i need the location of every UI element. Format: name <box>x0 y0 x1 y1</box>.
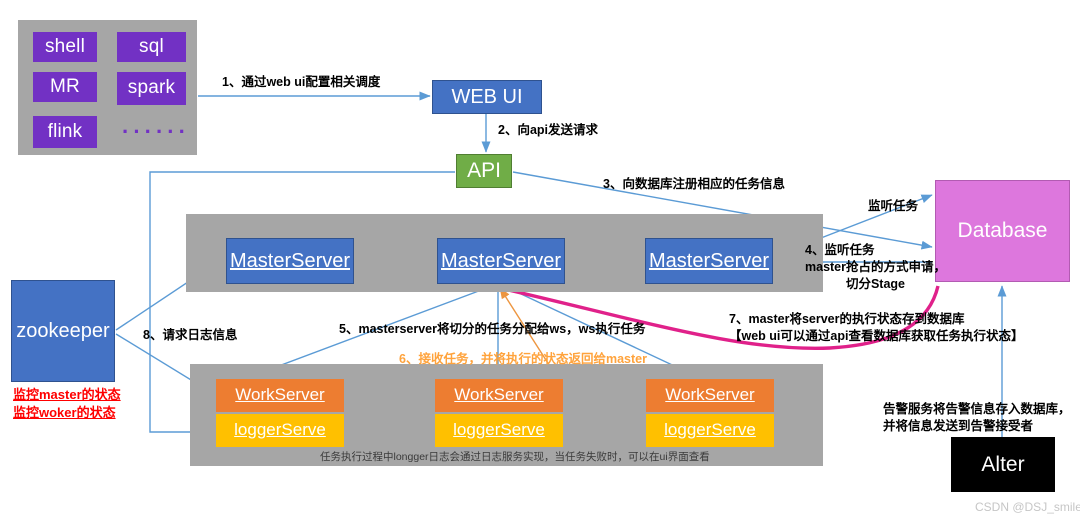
task-chip-mr[interactable]: MR <box>33 72 97 102</box>
annotation-step-7: 7、master将server的执行状态存到数据库 【web ui可以通过api… <box>729 311 1023 345</box>
task-chip-sql[interactable]: sql <box>117 32 186 62</box>
annotation-step-3: 3、向数据库注册相应的任务信息 <box>603 176 785 193</box>
work-server-node-3[interactable]: WorkServer <box>646 379 774 412</box>
zookeeper-note-line-1: 监控master的状态 <box>13 386 121 404</box>
work-server-node-2[interactable]: WorkServer <box>435 379 563 412</box>
api-node[interactable]: API <box>456 154 512 188</box>
annotation-step-4-line-2: master抢占的方式申请， <box>805 259 946 276</box>
logger-serve-node-1[interactable]: loggerServe <box>216 414 344 447</box>
task-chip-flink[interactable]: flink <box>33 116 97 148</box>
task-chip-spark[interactable]: spark <box>117 72 186 105</box>
watermark: CSDN @DSJ_smile <box>975 500 1080 514</box>
zookeeper-node[interactable]: zookeeper <box>11 280 115 382</box>
database-node[interactable]: Database <box>935 180 1070 282</box>
annotation-step-7-line-2: 【web ui可以通过api查看数据库获取任务执行状态】 <box>729 328 1023 345</box>
alter-note-line-2: 并将信息发送到告警接受者 <box>883 418 1071 435</box>
master-server-node-2[interactable]: MasterServer <box>437 238 565 284</box>
web-ui-node[interactable]: WEB UI <box>432 80 542 114</box>
annotation-step-8: 8、请求日志信息 <box>143 327 237 344</box>
zookeeper-note: 监控master的状态 监控woker的状态 <box>13 386 121 422</box>
alter-node[interactable]: Alter <box>951 437 1055 492</box>
master-server-node-3[interactable]: MasterServer <box>645 238 773 284</box>
annotation-step-1: 1、通过web ui配置相关调度 <box>222 74 380 91</box>
annotation-listen-task: 监听任务 <box>868 198 918 215</box>
zookeeper-note-line-2: 监控woker的状态 <box>13 404 121 422</box>
diagram-canvas: shell sql MR spark flink ······ WEB UI A… <box>0 0 1080 521</box>
task-chip-shell[interactable]: shell <box>33 32 97 62</box>
alter-note: 告警服务将告警信息存入数据库， 并将信息发送到告警接受者 <box>883 401 1071 435</box>
annotation-step-4-line-1: 4、监听任务 <box>805 242 946 259</box>
annotation-step-6: 6、接收任务，并将执行的状态返回给master <box>399 348 647 367</box>
annotation-step-4-line-3: 切分Stage <box>805 276 946 293</box>
annotation-step-2: 2、向api发送请求 <box>498 122 598 139</box>
annotation-step-7-line-1: 7、master将server的执行状态存到数据库 <box>729 311 1023 328</box>
annotation-step-4: 4、监听任务 master抢占的方式申请， 切分Stage <box>805 242 946 293</box>
master-server-node-1[interactable]: MasterServer <box>226 238 354 284</box>
annotation-step-5: 5、masterserver将切分的任务分配给ws，ws执行任务 <box>339 321 645 338</box>
work-server-node-1[interactable]: WorkServer <box>216 379 344 412</box>
logger-serve-node-3[interactable]: loggerServe <box>646 414 774 447</box>
task-chip-more: ······ <box>122 118 192 146</box>
logger-serve-node-2[interactable]: loggerServe <box>435 414 563 447</box>
worker-caption: 任务执行过程中longger日志会通过日志服务实现，当任务失败时，可以在ui界面… <box>320 449 710 464</box>
alter-note-line-1: 告警服务将告警信息存入数据库， <box>883 401 1071 418</box>
